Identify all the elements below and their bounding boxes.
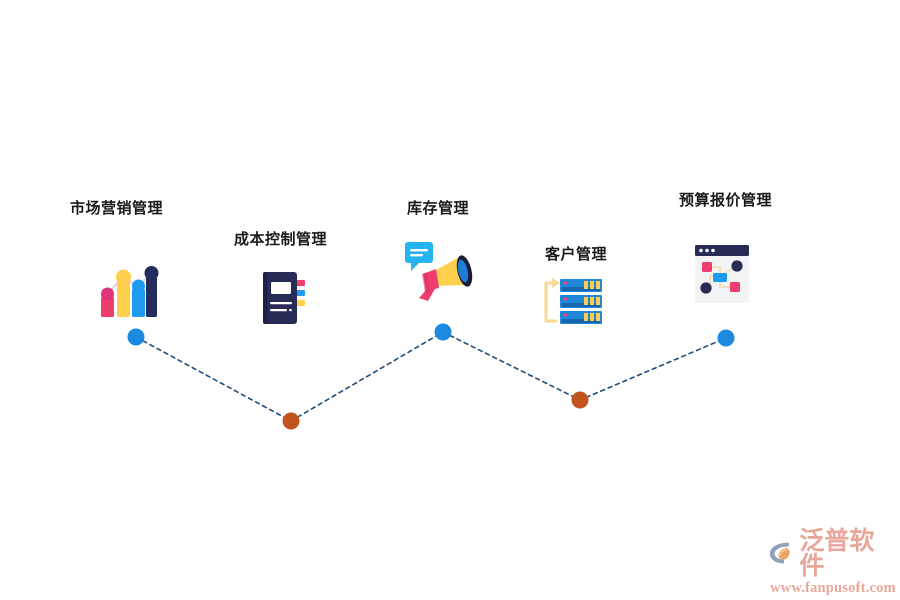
marker-dot-cost-control[interactable] <box>283 413 300 430</box>
node-label-customer: 客户管理 <box>545 247 607 262</box>
node-label-inventory: 库存管理 <box>407 201 469 216</box>
node-label-cost-control: 成本控制管理 <box>234 232 327 247</box>
ledger-book-icon <box>257 268 313 328</box>
watermark: 泛普软件 www.fanpusoft.com <box>768 534 894 590</box>
marker-dot-budget-quote[interactable] <box>718 330 735 347</box>
watermark-url: www.fanpusoft.com <box>770 581 896 596</box>
fanpu-logo-icon <box>768 539 796 567</box>
bar-chart-icon <box>96 257 160 321</box>
watermark-brand: 泛普软件 <box>799 528 894 578</box>
node-label-marketing: 市场营销管理 <box>70 201 163 216</box>
node-label-budget-quote: 预算报价管理 <box>679 193 772 208</box>
diagram-canvas: 市场营销管理 成本控制管理 <box>0 0 900 600</box>
marker-dot-customer[interactable] <box>572 392 589 409</box>
dashboard-window-icon <box>694 243 752 305</box>
server-rack-icon <box>543 273 605 329</box>
megaphone-icon <box>403 238 475 302</box>
marker-dot-inventory[interactable] <box>435 324 452 341</box>
marker-dot-marketing[interactable] <box>128 329 145 346</box>
zigzag-connector <box>136 332 726 421</box>
